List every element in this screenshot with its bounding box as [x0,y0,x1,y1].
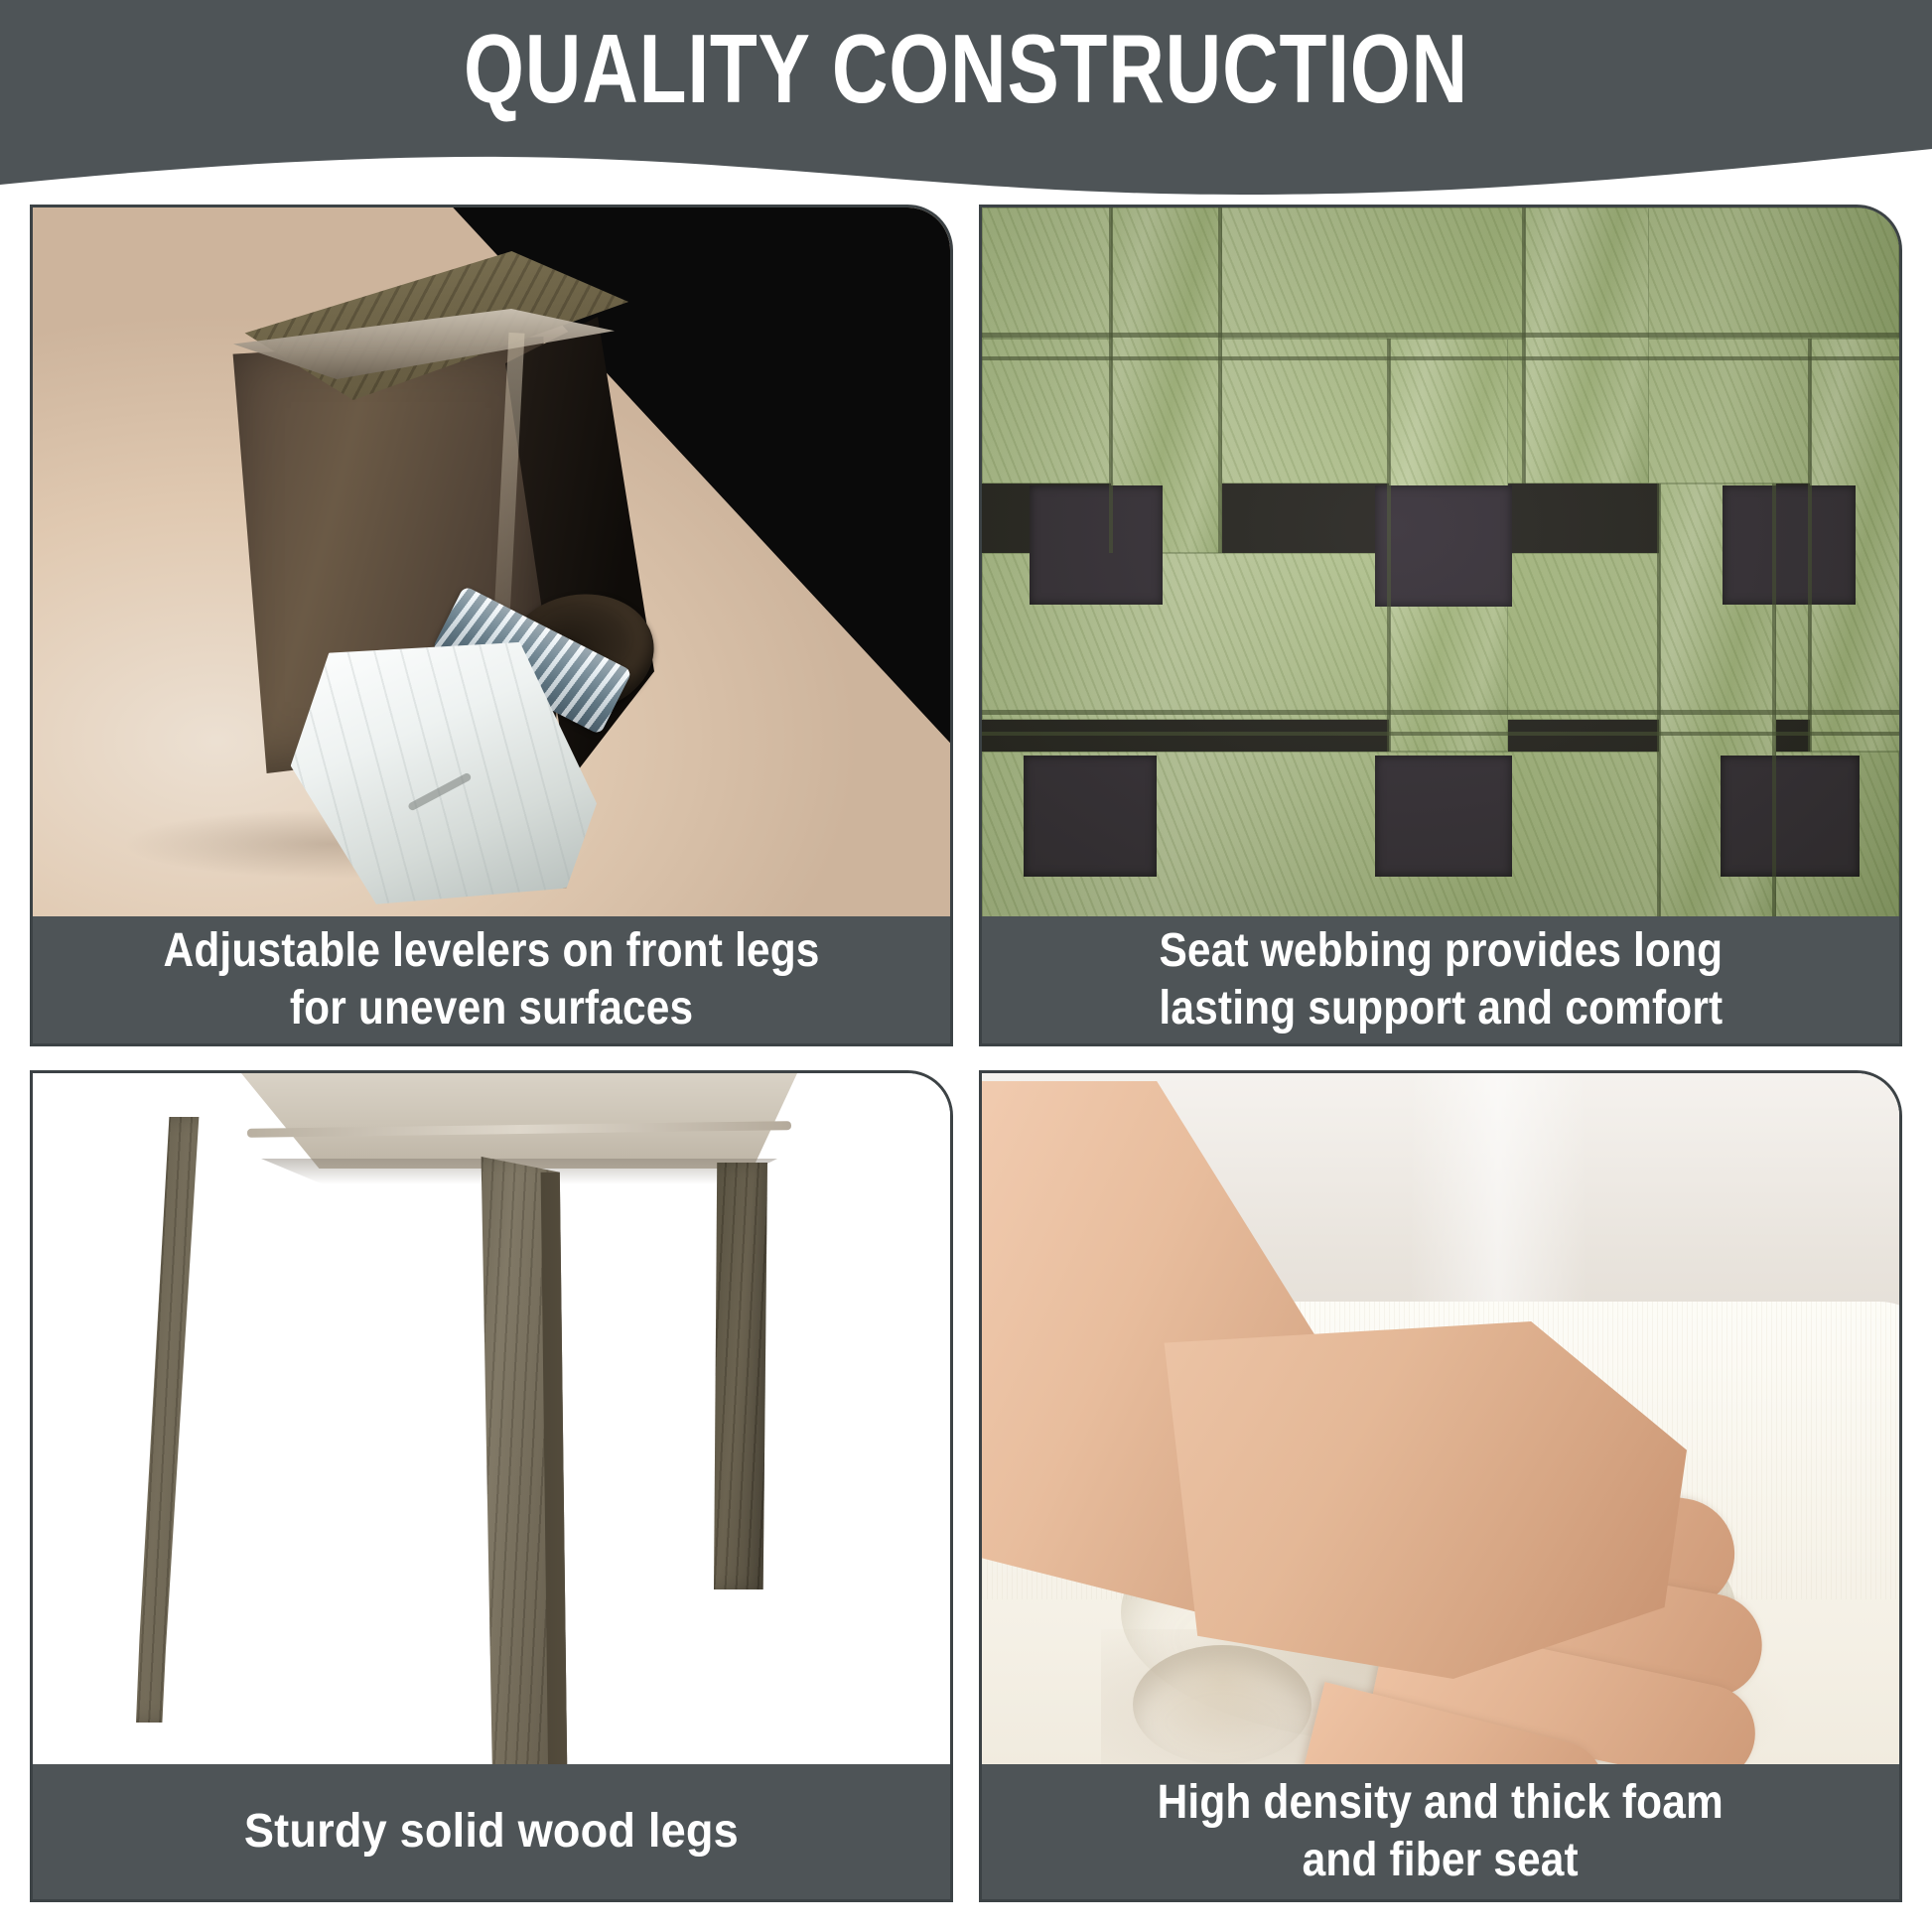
webbing-seam [982,732,1899,736]
webbing-seam [1109,207,1113,553]
webbing-gap [1375,485,1512,607]
webbing-gap [1723,485,1856,605]
webbing-strap-v [1524,207,1649,483]
caption-line-1: Seat webbing provides long [1159,922,1723,980]
hand-pressing-foam-photo [982,1073,1899,1768]
hand-pressing-foam-illustration [982,1073,1899,1768]
seat-webbing-illustration [982,207,1899,918]
webbing-gap [1030,485,1163,605]
webbing-seam [982,356,1899,360]
chair-leg-back-left [136,1117,223,1723]
panel-adjustable-levelers: Adjustable levelers on front legs for un… [30,205,953,1046]
caption-line-2: for uneven surfaces [163,980,819,1037]
webbing-gap [1024,756,1157,877]
panel-caption: High density and thick foam and fiber se… [982,1764,1899,1899]
upholstered-seat [241,1073,797,1169]
panel-caption: Adjustable levelers on front legs for un… [33,916,950,1043]
caption-line-1: Adjustable levelers on front legs [163,922,819,980]
caption-line-1: High density and thick foam [1158,1774,1724,1832]
panel-seat-webbing: Seat webbing provides long lasting suppo… [979,205,1902,1046]
caption-line-2: and fiber seat [1158,1832,1724,1889]
webbing-seam [1387,339,1391,752]
green-seat-webbing-photo [982,207,1899,918]
page-header: QUALITY CONSTRUCTION [0,0,1932,199]
panel-caption: Seat webbing provides long lasting suppo… [982,916,1899,1043]
leg-wood-grain [136,1117,223,1723]
webbing-seam [1522,207,1526,483]
webbing-gap [1375,756,1512,877]
wood-leg-leveler-illustration [33,207,950,918]
caption-line-1: Sturdy solid wood legs [244,1803,739,1861]
webbing-seam [1772,483,1776,918]
panel-foam-fiber-seat: High density and thick foam and fiber se… [979,1070,1902,1902]
caption-line-2: lasting support and comfort [1159,980,1723,1037]
wood-leg-group [178,245,674,761]
webbing-seam [982,710,1899,715]
solid-wood-legs-photo [33,1073,950,1768]
panel-caption: Sturdy solid wood legs [33,1764,950,1899]
chair-leg-right [714,1163,767,1589]
wood-leg-leveler-photo [33,207,950,918]
webbing-seam [1657,483,1661,918]
panel-solid-wood-legs: Sturdy solid wood legs [30,1070,953,1902]
leg-wood-grain [714,1163,767,1589]
webbing-gap [1721,756,1860,877]
feature-panel-grid: Adjustable levelers on front legs for un… [30,205,1902,1902]
webbing-seam [1218,207,1222,553]
page-title: QUALITY CONSTRUCTION [194,14,1739,123]
solid-wood-legs-illustration [33,1073,950,1768]
webbing-seam [1808,339,1812,752]
webbing-seam [982,333,1899,338]
